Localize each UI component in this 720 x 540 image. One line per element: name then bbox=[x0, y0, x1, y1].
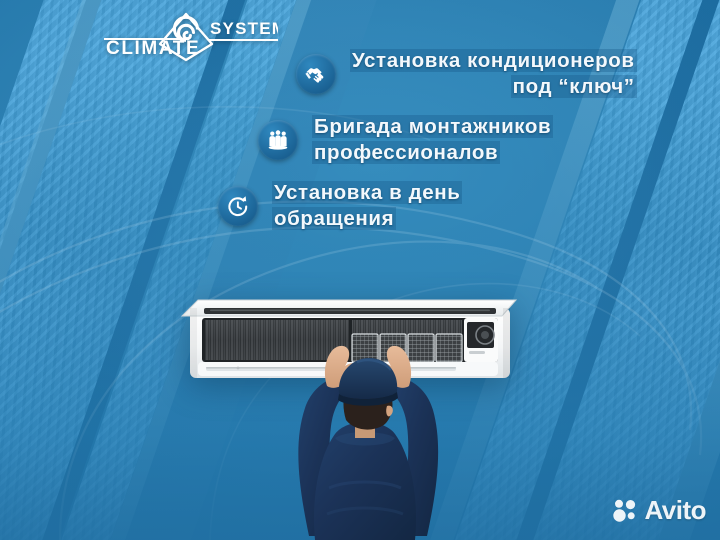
feature-line-1: Установка кондиционеров bbox=[350, 49, 637, 72]
avito-wordmark: Avito bbox=[644, 495, 706, 526]
technician-figure bbox=[243, 338, 488, 540]
feature-line-1: Установка в день bbox=[272, 181, 462, 204]
feature-text: Установка в деньобращения bbox=[272, 180, 462, 232]
feature-line-2: под “ключ” bbox=[511, 75, 637, 98]
clock-fast-icon bbox=[218, 186, 258, 226]
feature-text: Установка кондиционеровпод “ключ” bbox=[350, 48, 637, 100]
feature-item-same-day-installation: Установка в деньобращения bbox=[0, 180, 720, 232]
handshake-icon bbox=[296, 54, 336, 94]
feature-item-professional-crew: Бригада монтажниковпрофессионалов bbox=[0, 114, 720, 166]
feature-line-2: профессионалов bbox=[312, 141, 500, 164]
logo-word-right: SYSTEMS bbox=[210, 19, 278, 38]
team-people-icon bbox=[258, 120, 298, 160]
feature-line-2: обращения bbox=[272, 207, 396, 230]
ad-banner: CLIMATE SYSTEMS Установка кондиционеровп… bbox=[0, 0, 720, 540]
feature-list: Установка кондиционеровпод “ключ” Бригад… bbox=[0, 48, 720, 246]
feature-line-1: Бригада монтажников bbox=[312, 115, 553, 138]
feature-text: Бригада монтажниковпрофессионалов bbox=[312, 114, 553, 166]
feature-item-turnkey-installation: Установка кондиционеровпод “ключ” bbox=[0, 48, 720, 100]
avito-watermark: Avito bbox=[612, 495, 706, 526]
avito-dots-icon bbox=[612, 499, 638, 523]
